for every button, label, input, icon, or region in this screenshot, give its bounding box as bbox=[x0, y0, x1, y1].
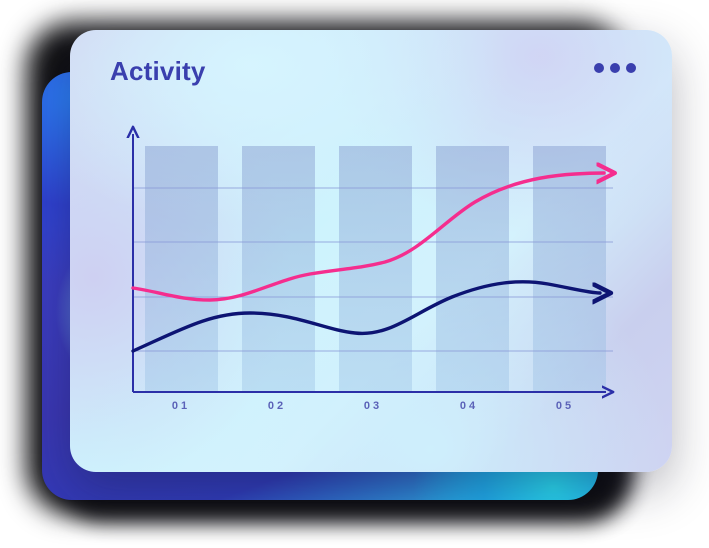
x-label-01: 01 bbox=[133, 400, 229, 412]
chart-band-01 bbox=[145, 146, 218, 392]
screenshot-root: Activity bbox=[0, 0, 709, 548]
x-label-04: 04 bbox=[421, 400, 517, 412]
chart-band-02 bbox=[242, 146, 315, 392]
x-label-02: 02 bbox=[229, 400, 325, 412]
x-axis-labels: 01 02 03 04 05 bbox=[133, 400, 613, 412]
chart-bands bbox=[145, 146, 606, 392]
x-label-05: 05 bbox=[517, 400, 613, 412]
x-label-03: 03 bbox=[325, 400, 421, 412]
chart-band-04 bbox=[436, 146, 509, 392]
chart-band-05 bbox=[533, 146, 606, 392]
activity-card: Activity bbox=[70, 30, 672, 472]
